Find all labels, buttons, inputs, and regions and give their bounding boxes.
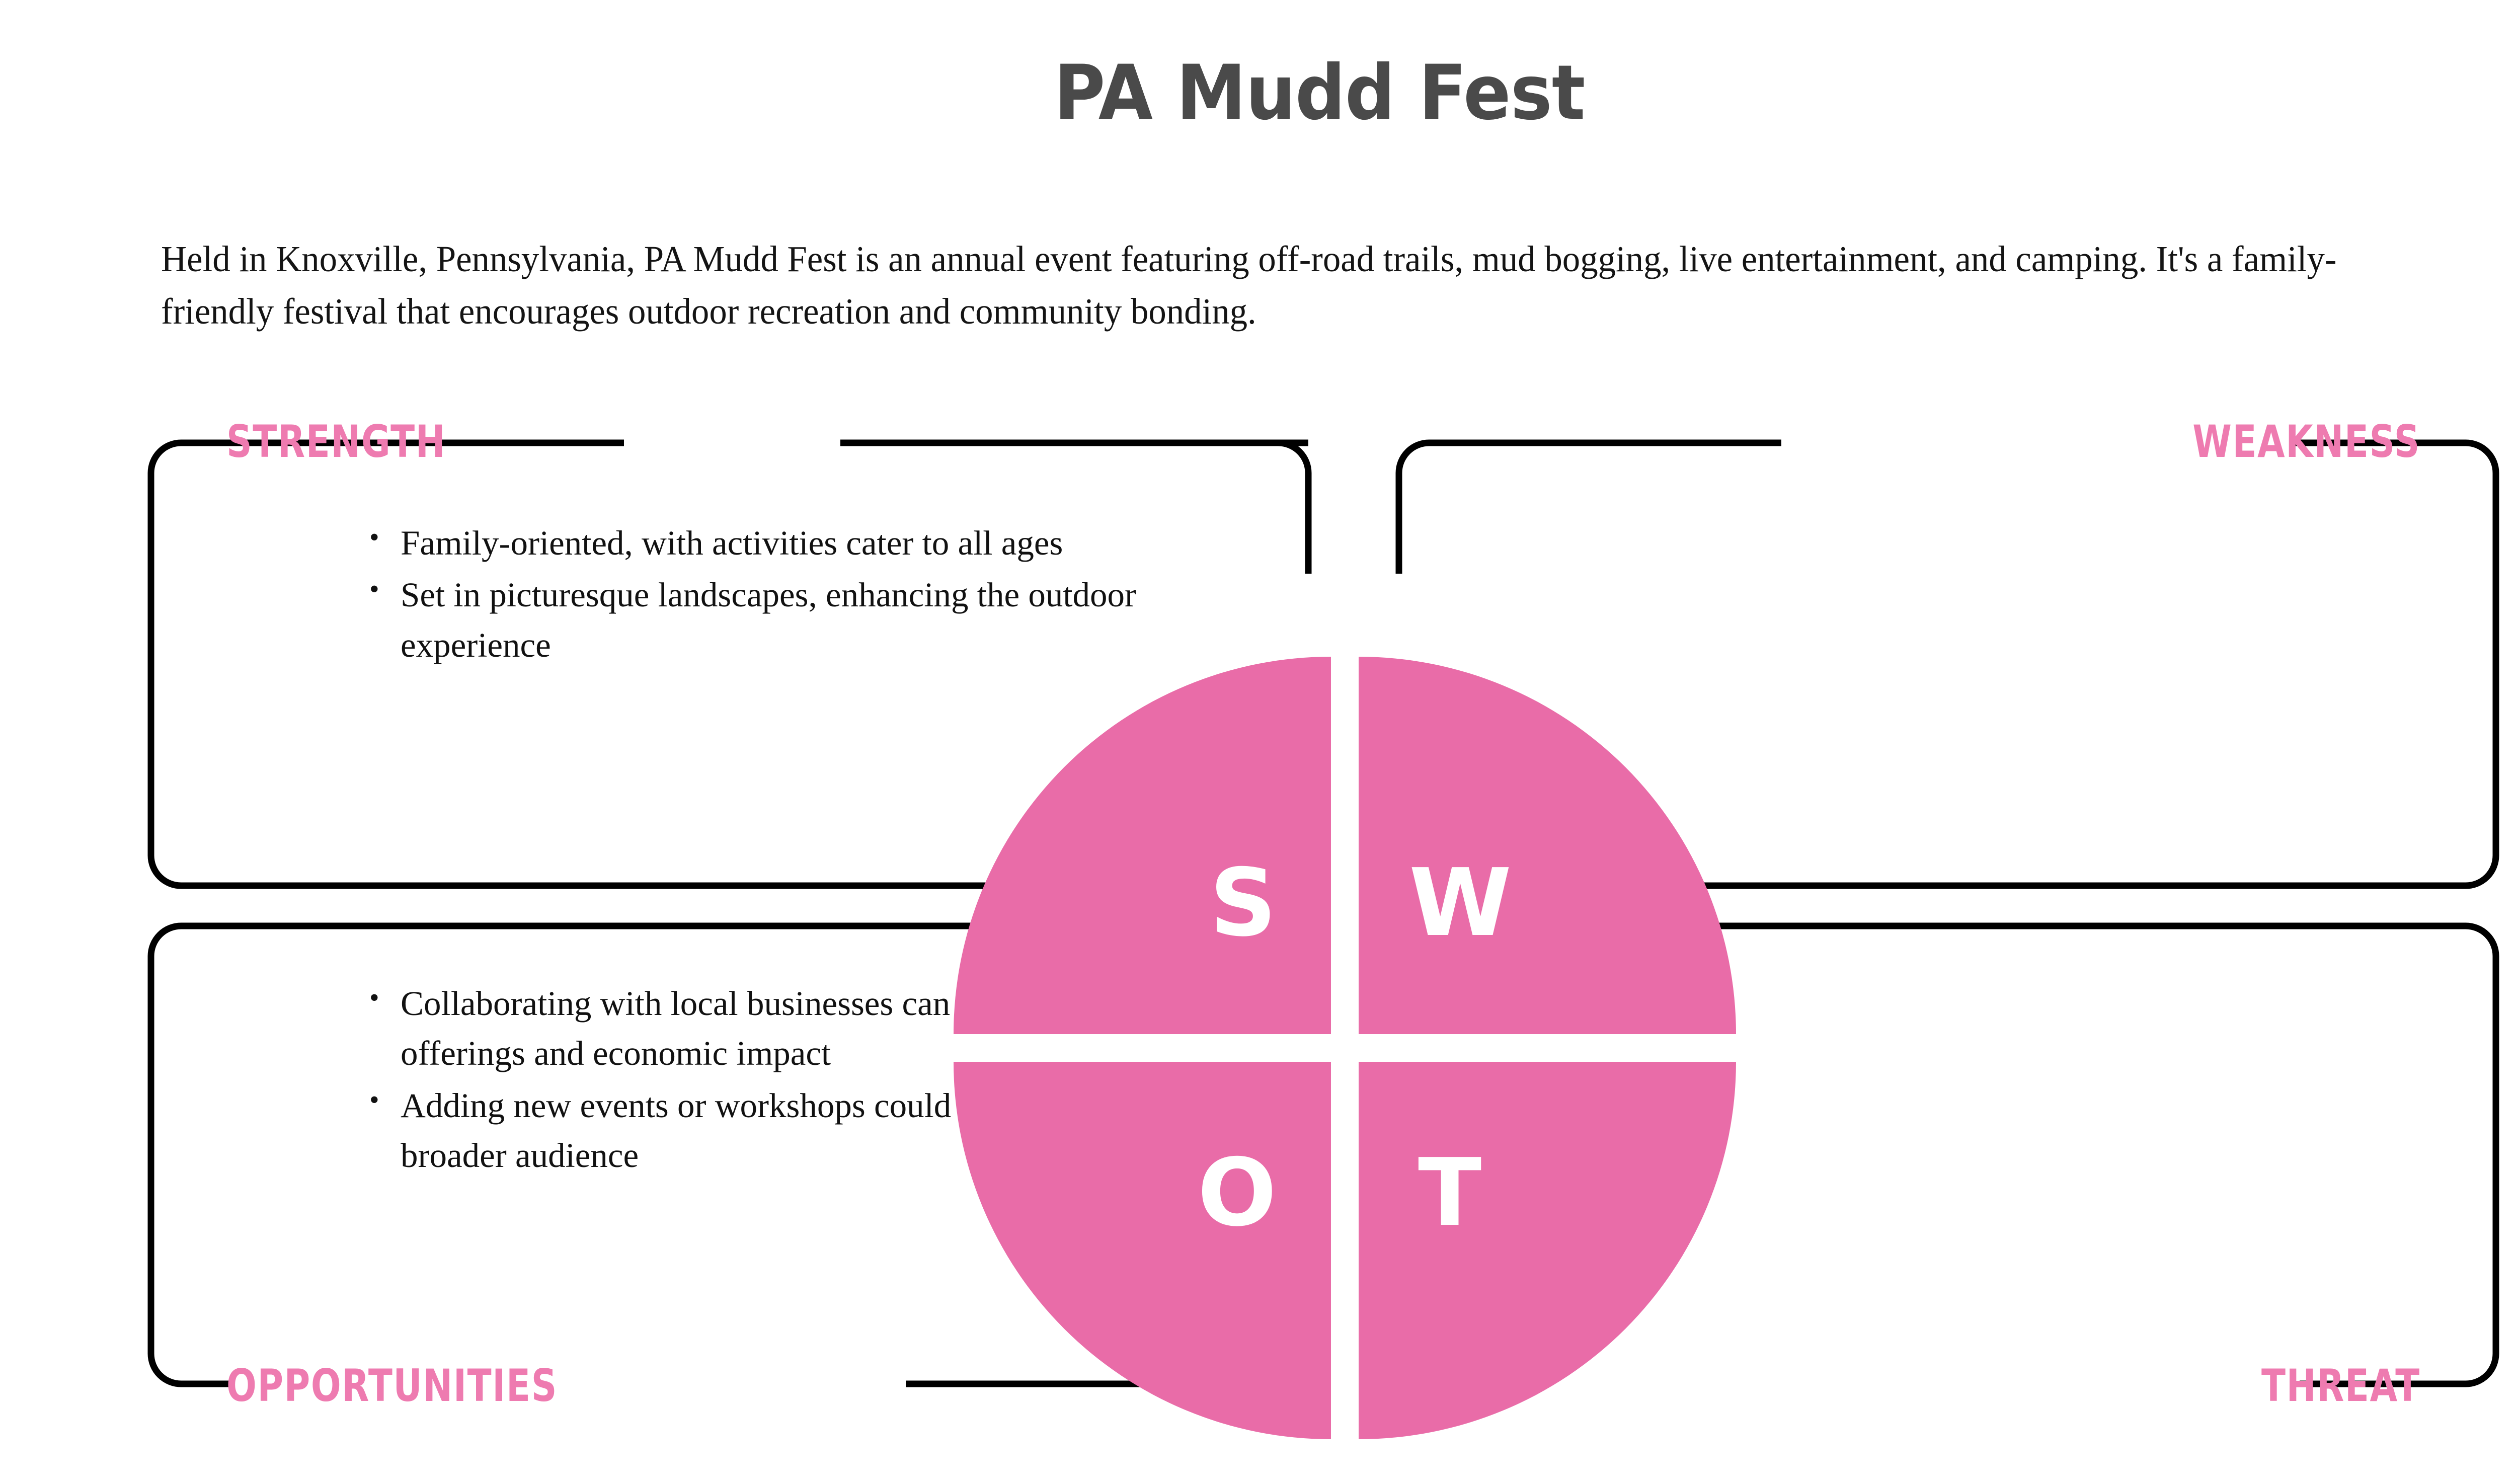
quadrant-label-opportunities: OPPORTUNITIES <box>226 1364 558 1408</box>
circle-letter-s: S <box>1210 856 1277 950</box>
list-item: Set in picturesque landscapes, enhancing… <box>362 570 1218 670</box>
circle-quadrant-threat[interactable]: T <box>1359 1062 1736 1439</box>
circle-quadrant-strength[interactable]: S <box>954 657 1331 1034</box>
circle-letter-w: W <box>1409 856 1512 950</box>
page-description: Held in Knoxville, Pennsylvania, PA Mudd… <box>161 233 2416 337</box>
swot-circle: S W O T <box>954 657 1736 1439</box>
quadrant-label-strength: STRENGTH <box>226 420 446 464</box>
strength-bullet-list: Family-oriented, with activities cater t… <box>362 518 1218 672</box>
header: PA Mudd Fest Held in Knoxville, Pennsylv… <box>0 0 2516 131</box>
quadrant-label-threat: THREAT <box>2261 1364 2420 1408</box>
list-item: Family-oriented, with activities cater t… <box>362 518 1218 568</box>
circle-quadrant-opportunities[interactable]: O <box>954 1062 1331 1439</box>
circle-letter-o: O <box>1198 1146 1277 1239</box>
page-title: PA Mudd Fest <box>93 0 2516 131</box>
quadrant-label-weakness: WEAKNESS <box>2192 420 2420 464</box>
swot-diagram: STRENGTH Family-oriented, with activitie… <box>0 403 2516 1409</box>
circle-letter-t: T <box>1418 1146 1481 1239</box>
circle-quadrant-weakness[interactable]: W <box>1359 657 1736 1034</box>
